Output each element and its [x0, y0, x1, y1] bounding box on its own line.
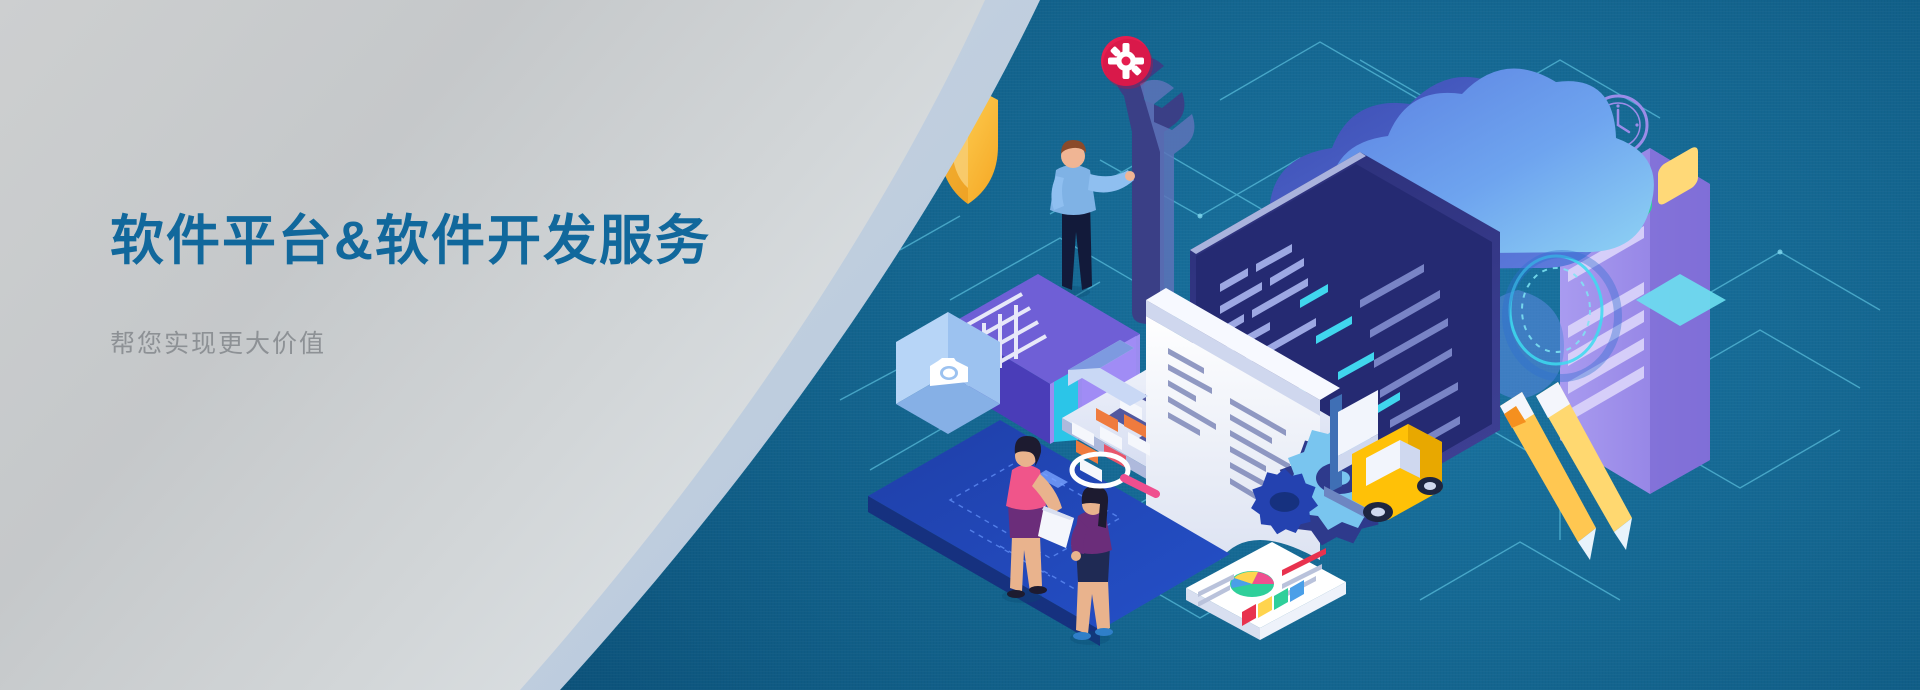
page-title: 软件平台&软件开发服务 — [110, 210, 870, 272]
banner-copy: 软件平台&软件开发服务 帮您实现更大价值 — [110, 210, 870, 360]
hero-banner: 软件平台&软件开发服务 帮您实现更大价值 — [0, 0, 1920, 690]
page-subtitle: 帮您实现更大价值 — [110, 324, 870, 360]
